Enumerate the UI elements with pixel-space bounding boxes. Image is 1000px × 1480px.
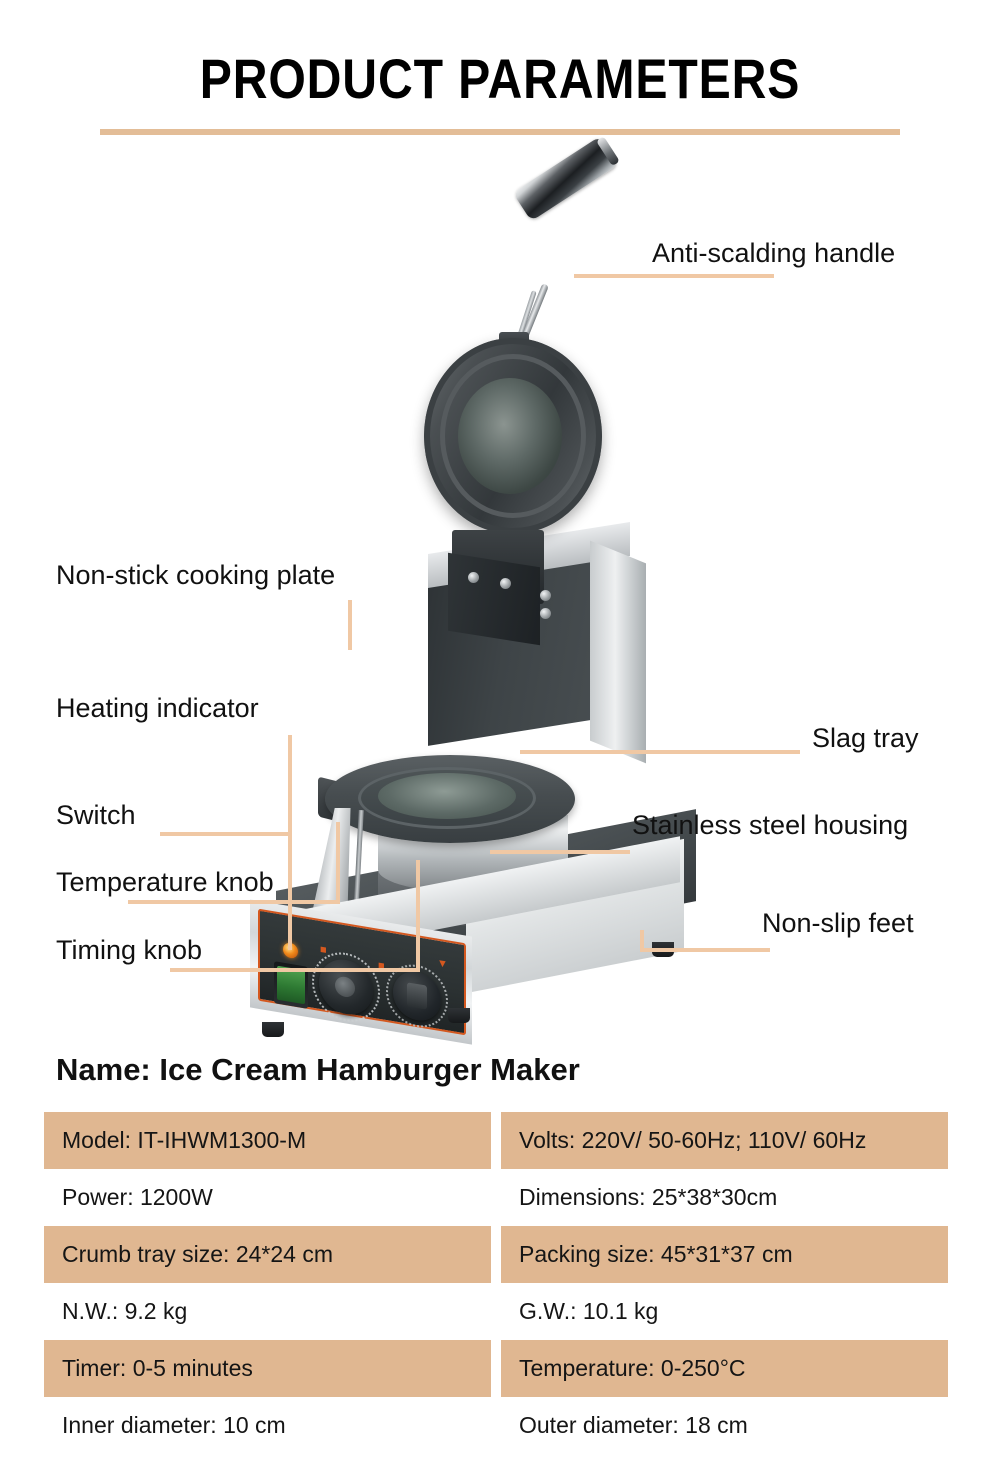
spec-row: Crumb tray size: 24*24 cmPacking size: 4… (44, 1226, 962, 1283)
callout-non-stick-cooking-plate: Non-stick cooking plate (56, 560, 335, 591)
non-slip-foot-icon (262, 1022, 284, 1037)
screw-icon (540, 608, 551, 619)
spec-cell-left: Crumb tray size: 24*24 cm (44, 1226, 491, 1283)
leader-line-anti-scalding-handle (574, 274, 774, 278)
spec-cell-right: G.W.: 10.1 kg (501, 1283, 948, 1340)
spec-cell-left: Model: IT-IHWM1300-M (44, 1112, 491, 1169)
specification-table: Model: IT-IHWM1300-MVolts: 220V/ 50-60Hz… (44, 1112, 962, 1454)
spec-cell-right: Outer diameter: 18 cm (501, 1397, 948, 1454)
anti-scalding-handle-icon (513, 136, 619, 221)
upper-cooking-plate (414, 338, 614, 548)
spec-cell-left: Inner diameter: 10 cm (44, 1397, 491, 1454)
spec-row: Power: 1200WDimensions: 25*38*30cm (44, 1169, 962, 1226)
housing-back-wall-right (590, 541, 646, 764)
spec-cell-right: Dimensions: 25*38*30cm (501, 1169, 948, 1226)
spec-row: Timer: 0-5 minutesTemperature: 0-250°C (44, 1340, 962, 1397)
page-title: PRODUCT PARAMETERS (70, 46, 930, 111)
leader-line-non-slip-feet-h (640, 948, 770, 952)
leader-line-timing-knob-h (170, 968, 420, 972)
hinge-plate (448, 553, 540, 646)
callout-anti-scalding-handle: Anti-scalding handle (652, 238, 895, 269)
spec-cell-right: Packing size: 45*31*37 cm (501, 1226, 948, 1283)
leader-line-heating-indicator (288, 735, 292, 950)
spec-row: N.W.: 9.2 kgG.W.: 10.1 kg (44, 1283, 962, 1340)
spec-cell-right: Volts: 220V/ 50-60Hz; 110V/ 60Hz (501, 1112, 948, 1169)
spec-cell-left: N.W.: 9.2 kg (44, 1283, 491, 1340)
spec-cell-left: Timer: 0-5 minutes (44, 1340, 491, 1397)
callout-heating-indicator: Heating indicator (56, 693, 259, 724)
leader-line-temperature-knob-h (128, 900, 340, 904)
leader-line-temperature-knob-v (336, 822, 340, 904)
callout-non-slip-feet: Non-slip feet (762, 908, 914, 939)
callout-temperature-knob: Temperature knob (56, 867, 274, 898)
product-parameters-page: PRODUCT PARAMETERS (0, 0, 1000, 1480)
spec-cell-right: Temperature: 0-250°C (501, 1340, 948, 1397)
panel-pointer-icon: ▼ (437, 957, 448, 971)
title-divider (100, 129, 900, 135)
leader-line-switch (160, 832, 292, 836)
lid-dome (458, 378, 562, 494)
non-slip-foot-icon (448, 1008, 470, 1023)
leader-line-stainless-steel-housing (490, 850, 630, 854)
callout-stainless-steel-housing: Stainless steel housing (632, 810, 908, 841)
callout-timing-knob: Timing knob (56, 935, 202, 966)
screw-icon (500, 578, 511, 589)
panel-mark-icon: ■ (320, 943, 327, 956)
spec-row: Inner diameter: 10 cmOuter diameter: 18 … (44, 1397, 962, 1454)
leader-line-timing-knob-v (416, 860, 420, 972)
spec-cell-left: Power: 1200W (44, 1169, 491, 1226)
leader-line-non-slip-feet-v (640, 930, 644, 950)
screw-icon (540, 590, 551, 601)
callout-switch: Switch (56, 800, 136, 831)
spec-row: Model: IT-IHWM1300-MVolts: 220V/ 50-60Hz… (44, 1112, 962, 1169)
plate-cooking-surface (378, 773, 516, 819)
leader-line-slag-tray (520, 750, 800, 754)
product-diagram: ■ ■ ▼ (0, 160, 1000, 1020)
product-name: Name: Ice Cream Hamburger Maker (56, 1052, 580, 1088)
callout-slag-tray: Slag tray (812, 723, 919, 754)
leader-line-non-stick-cooking-plate (348, 600, 352, 650)
screw-icon (468, 572, 479, 583)
